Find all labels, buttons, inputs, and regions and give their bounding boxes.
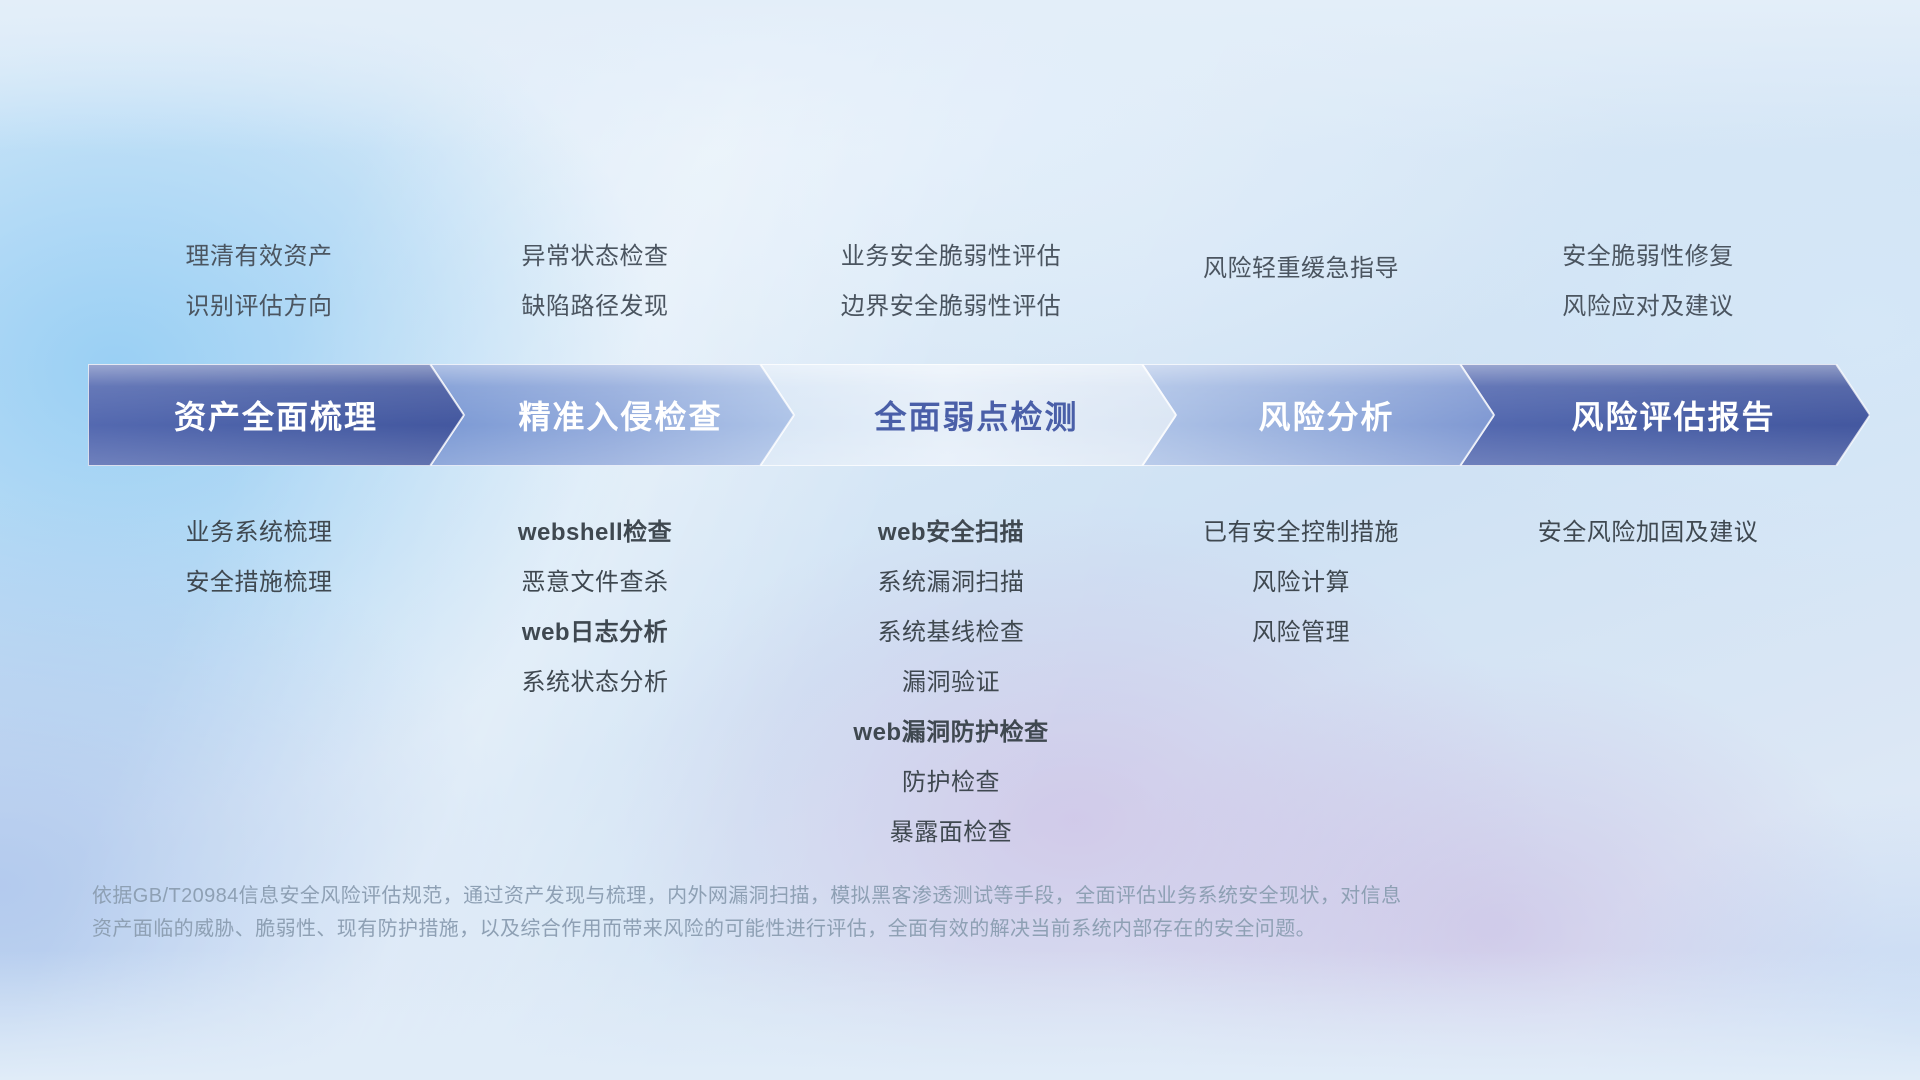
footnote-line-1: 依据GB/T20984信息安全风险评估规范，通过资产发现与梳理，内外网漏洞扫描，…: [92, 880, 1652, 913]
caption-text: 风险应对及建议: [1460, 282, 1836, 332]
caption-text: 已有安全控制措施: [1142, 508, 1460, 558]
chevron-asset-inventory[interactable]: 资产全面梳理: [88, 364, 464, 466]
caption-text: 风险计算: [1142, 558, 1460, 608]
caption-text: 风险轻重缓急指导: [1142, 244, 1460, 294]
caption-text: web漏洞防护检查: [760, 708, 1142, 758]
footnote-line-2: 资产面临的威胁、脆弱性、现有防护措施，以及综合作用而带来风险的可能性进行评估，全…: [92, 913, 1652, 946]
caption-text: 识别评估方向: [88, 282, 430, 332]
chevron-weakness-detection[interactable]: 全面弱点检测: [760, 364, 1176, 466]
caption-text: 防护检查: [760, 758, 1142, 808]
caption-text: 理清有效资产: [88, 232, 430, 282]
caption-text: 暴露面检查: [760, 808, 1142, 858]
caption-below-risk-analysis: 已有安全控制措施风险计算风险管理: [1142, 508, 1460, 658]
stage-captions-above: 理清有效资产识别评估方向异常状态检查缺陷路径发现业务安全脆弱性评估边界安全脆弱性…: [88, 232, 1844, 332]
caption-text: 安全风险加固及建议: [1460, 508, 1836, 558]
chevron-label-intrusion-check: 精准入侵检查: [518, 392, 722, 438]
chevron-assessment-report[interactable]: 风险评估报告: [1460, 364, 1870, 466]
caption-above-asset-inventory: 理清有效资产识别评估方向: [88, 232, 430, 332]
chevron-label-weakness-detection: 全面弱点检测: [874, 392, 1078, 438]
caption-above-assessment-report: 安全脆弱性修复风险应对及建议: [1460, 232, 1836, 332]
caption-above-weakness-detection: 业务安全脆弱性评估边界安全脆弱性评估: [760, 232, 1142, 332]
caption-text: 安全脆弱性修复: [1460, 232, 1836, 282]
caption-above-risk-analysis: 风险轻重缓急指导: [1142, 232, 1460, 332]
caption-text: webshell检查: [430, 508, 760, 558]
caption-text: web日志分析: [430, 608, 760, 658]
chevron-intrusion-check[interactable]: 精准入侵检查: [430, 364, 794, 466]
chevron-label-risk-analysis: 风险分析: [1258, 392, 1394, 438]
chevron-risk-analysis[interactable]: 风险分析: [1142, 364, 1494, 466]
stage-captions-below: 业务系统梳理安全措施梳理webshell检查恶意文件查杀web日志分析系统状态分…: [88, 508, 1844, 858]
caption-below-assessment-report: 安全风险加固及建议: [1460, 508, 1836, 558]
caption-text: 系统基线检查: [760, 608, 1142, 658]
caption-text: 恶意文件查杀: [430, 558, 760, 608]
footnote-paragraph: 依据GB/T20984信息安全风险评估规范，通过资产发现与梳理，内外网漏洞扫描，…: [92, 880, 1652, 946]
caption-text: 漏洞验证: [760, 658, 1142, 708]
caption-below-asset-inventory: 业务系统梳理安全措施梳理: [88, 508, 430, 608]
caption-text: web安全扫描: [760, 508, 1142, 558]
chevron-label-assessment-report: 风险评估报告: [1571, 392, 1775, 438]
caption-below-weakness-detection: web安全扫描系统漏洞扫描系统基线检查漏洞验证web漏洞防护检查防护检查暴露面检…: [760, 508, 1142, 858]
caption-text: 业务系统梳理: [88, 508, 430, 558]
caption-text: 业务安全脆弱性评估: [760, 232, 1142, 282]
caption-text: 系统状态分析: [430, 658, 760, 708]
chevron-label-asset-inventory: 资产全面梳理: [174, 392, 378, 438]
caption-text: 缺陷路径发现: [430, 282, 760, 332]
caption-text: 系统漏洞扫描: [760, 558, 1142, 608]
caption-text: 安全措施梳理: [88, 558, 430, 608]
process-chevron-banner: 资产全面梳理精准入侵检查全面弱点检测风险分析风险评估报告: [88, 364, 1836, 466]
caption-text: 异常状态检查: [430, 232, 760, 282]
slide-canvas: 理清有效资产识别评估方向异常状态检查缺陷路径发现业务安全脆弱性评估边界安全脆弱性…: [0, 0, 1920, 1080]
caption-below-intrusion-check: webshell检查恶意文件查杀web日志分析系统状态分析: [430, 508, 760, 708]
caption-above-intrusion-check: 异常状态检查缺陷路径发现: [430, 232, 760, 332]
caption-text: 风险管理: [1142, 608, 1460, 658]
caption-text: 边界安全脆弱性评估: [760, 282, 1142, 332]
